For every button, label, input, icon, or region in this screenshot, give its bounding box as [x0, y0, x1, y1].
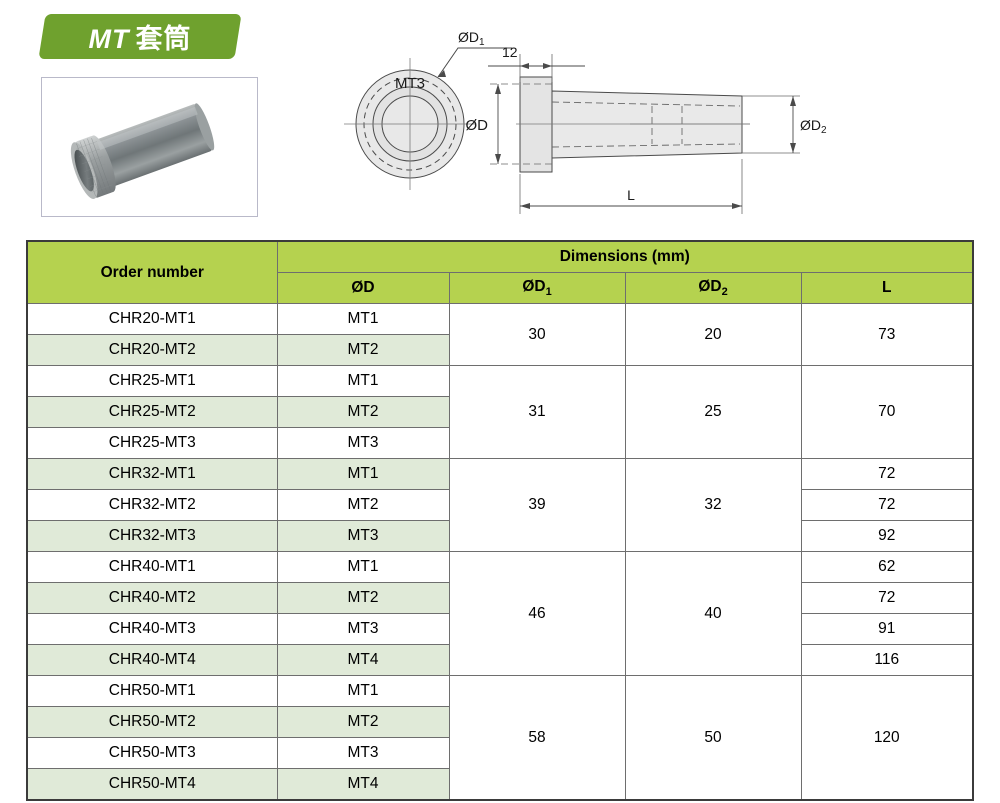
cell-taper: MT4 [277, 645, 449, 676]
table-row: CHR50-MT1MT15850120 [27, 676, 973, 707]
cell-taper: MT2 [277, 397, 449, 428]
table-head: Order number Dimensions (mm) ØDØD1ØD2L [27, 241, 973, 304]
cell-order-number: CHR50-MT4 [27, 769, 277, 801]
cell-d1: 39 [449, 459, 625, 552]
cell-d1: 31 [449, 366, 625, 459]
cell-taper: MT4 [277, 769, 449, 801]
spec-table: Order number Dimensions (mm) ØDØD1ØD2L C… [26, 240, 974, 801]
cell-taper: MT3 [277, 521, 449, 552]
header-sub-3: ØD2 [625, 273, 801, 304]
header-dimensions: Dimensions (mm) [277, 241, 973, 273]
cell-order-number: CHR40-MT3 [27, 614, 277, 645]
table-body: CHR20-MT1MT1302073CHR20-MT2MT2CHR25-MT1M… [27, 304, 973, 801]
dimension-flange-width: 12 [488, 44, 585, 82]
product-photo-box [41, 77, 258, 217]
cell-order-number: CHR40-MT1 [27, 552, 277, 583]
cell-order-number: CHR25-MT3 [27, 428, 277, 459]
cell-taper: MT3 [277, 428, 449, 459]
cell-taper: MT2 [277, 707, 449, 738]
cell-d2: 32 [625, 459, 801, 552]
header-row-1: Order number Dimensions (mm) [27, 241, 973, 273]
cell-order-number: CHR32-MT1 [27, 459, 277, 490]
cell-order-number: CHR50-MT1 [27, 676, 277, 707]
cell-length: 70 [801, 366, 973, 459]
cell-taper: MT1 [277, 552, 449, 583]
cell-order-number: CHR32-MT3 [27, 521, 277, 552]
cell-order-number: CHR50-MT2 [27, 707, 277, 738]
cell-taper: MT2 [277, 583, 449, 614]
header-order-number: Order number [27, 241, 277, 304]
cell-order-number: CHR40-MT4 [27, 645, 277, 676]
cell-taper: MT2 [277, 490, 449, 521]
cell-taper: MT1 [277, 676, 449, 707]
table-row: CHR25-MT1MT1312570 [27, 366, 973, 397]
cell-d2: 40 [625, 552, 801, 676]
label-d: ØD [466, 117, 489, 134]
banner: MT套筒 [42, 14, 238, 59]
cell-length: 72 [801, 490, 973, 521]
technical-drawing: MT3 ØD1 [330, 14, 860, 229]
table-row: CHR32-MT1MT1393272 [27, 459, 973, 490]
cell-taper: MT3 [277, 614, 449, 645]
dimension-length: L [520, 159, 742, 214]
cell-order-number: CHR25-MT1 [27, 366, 277, 397]
front-view-label: MT3 [395, 75, 425, 92]
header-sub-2: ØD1 [449, 273, 625, 304]
cell-d1: 46 [449, 552, 625, 676]
banner-title: MT套筒 [89, 17, 192, 56]
banner-title-cn: 套筒 [135, 24, 191, 54]
spec-table-wrap: Order number Dimensions (mm) ØDØD1ØD2L C… [26, 240, 974, 801]
cell-taper: MT1 [277, 459, 449, 490]
cell-order-number: CHR40-MT2 [27, 583, 277, 614]
header-sub-4: L [801, 273, 973, 304]
cell-length: 120 [801, 676, 973, 801]
label-flange-width: 12 [502, 44, 518, 60]
cell-length: 72 [801, 583, 973, 614]
table-row: CHR20-MT1MT1302073 [27, 304, 973, 335]
cell-taper: MT1 [277, 304, 449, 335]
side-view [516, 77, 750, 172]
cell-order-number: CHR32-MT2 [27, 490, 277, 521]
cell-order-number: CHR20-MT2 [27, 335, 277, 366]
cell-length: 62 [801, 552, 973, 583]
product-photo [42, 78, 257, 216]
cell-order-number: CHR20-MT1 [27, 304, 277, 335]
banner-title-latin: MT [89, 24, 130, 54]
cell-length: 116 [801, 645, 973, 676]
cell-taper: MT1 [277, 366, 449, 397]
cell-d2: 50 [625, 676, 801, 801]
cell-taper: MT2 [277, 335, 449, 366]
cell-length: 72 [801, 459, 973, 490]
cell-order-number: CHR25-MT2 [27, 397, 277, 428]
cell-order-number: CHR50-MT3 [27, 738, 277, 769]
header-sub-1: ØD [277, 273, 449, 304]
cell-d2: 20 [625, 304, 801, 366]
cell-length: 73 [801, 304, 973, 366]
cell-d2: 25 [625, 366, 801, 459]
cell-length: 92 [801, 521, 973, 552]
label-d1: ØD1 [458, 29, 485, 48]
label-d2: ØD2 [800, 117, 827, 136]
cell-d1: 30 [449, 304, 625, 366]
cell-taper: MT3 [277, 738, 449, 769]
label-length: L [627, 187, 635, 203]
cell-length: 91 [801, 614, 973, 645]
table-row: CHR40-MT1MT1464062 [27, 552, 973, 583]
cell-d1: 58 [449, 676, 625, 801]
